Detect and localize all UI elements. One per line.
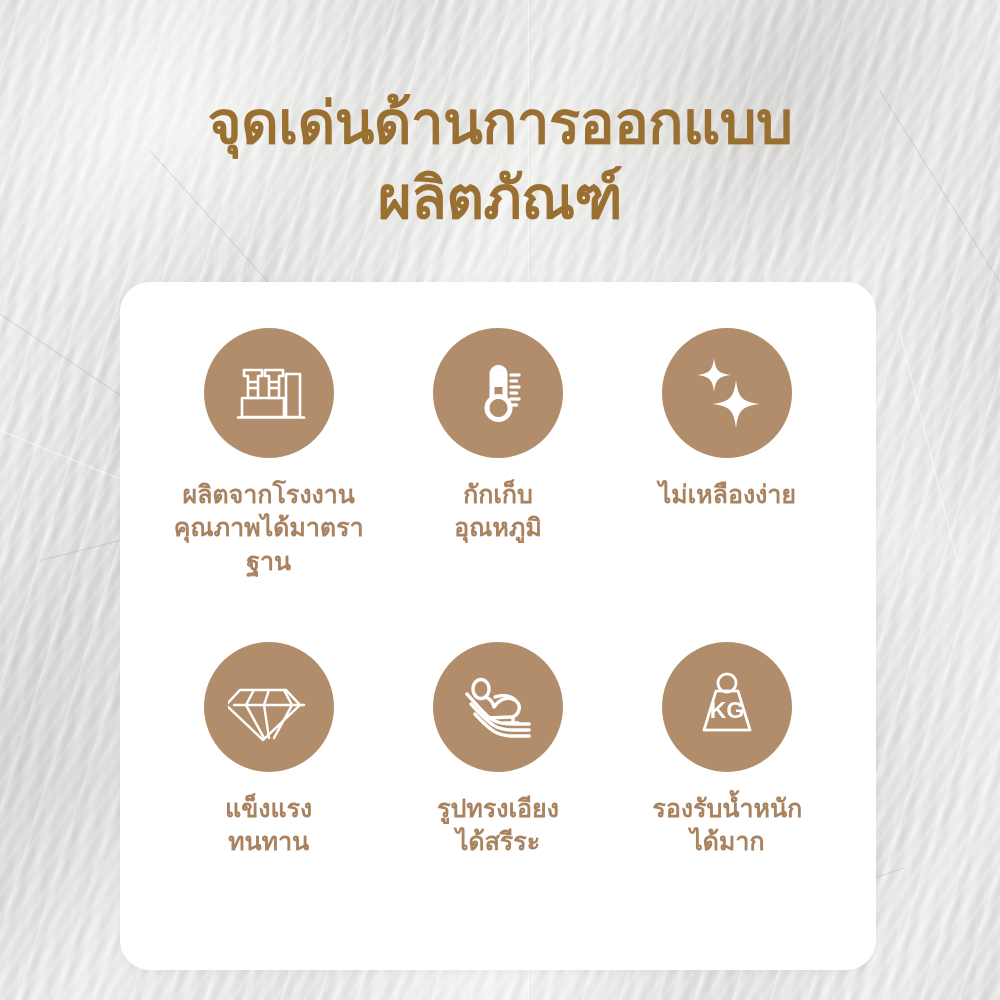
icon-badge-no-yellowing	[662, 328, 792, 458]
feature-label-line-1: กักเก็บ	[463, 481, 533, 509]
diamond-icon	[228, 666, 310, 748]
feature-label-durable: แข็งแรง ทนทาน	[225, 793, 312, 860]
feature-item-no-yellowing: ไม่เหลืองง่าย	[613, 328, 842, 636]
feature-item-durable: แข็งแรง ทนทาน	[154, 642, 383, 944]
page-title: จุดเด่นด้านการออกแบบ ผลิตภัณฑ์	[0, 86, 1000, 237]
feature-item-temperature: กักเก็บ อุณหภูมิ	[383, 328, 612, 636]
icon-badge-temperature	[433, 328, 563, 458]
feature-label-load-capacity: รองรับน้ำหนัก ได้มาก	[652, 793, 802, 860]
page-title-line-1: จุดเด่นด้านการออกแบบ	[0, 86, 1000, 161]
feature-label-line-2: ได้สรีระ	[437, 826, 559, 859]
icon-badge-durable	[204, 642, 334, 772]
reclining-person-icon	[455, 664, 541, 750]
icon-badge-factory	[204, 328, 334, 458]
feature-label-line-1: ผลิตจากโรงงาน	[182, 481, 354, 509]
features-grid: ผลิตจากโรงงาน คุณภาพได้มาตราฐาน	[120, 282, 876, 970]
feature-label-line-1: ไม่เหลืองง่าย	[659, 481, 797, 509]
thermometer-icon	[458, 353, 538, 433]
features-card: ผลิตจากโรงงาน คุณภาพได้มาตราฐาน	[120, 282, 876, 970]
feature-label-ergonomic: รูปทรงเอียง ได้สรีระ	[437, 793, 559, 860]
poster-canvas: จุดเด่นด้านการออกแบบ ผลิตภัณฑ์	[0, 0, 1000, 1000]
feature-label-line-2: ได้มาก	[652, 826, 802, 859]
feature-label-temperature: กักเก็บ อุณหภูมิ	[454, 479, 542, 546]
feature-label-line-2: อุณหภูมิ	[454, 512, 542, 545]
weight-kg-icon: KG	[686, 666, 768, 748]
feature-item-factory: ผลิตจากโรงงาน คุณภาพได้มาตราฐาน	[154, 328, 383, 636]
feature-label-line-1: รูปทรงเอียง	[437, 795, 559, 823]
feature-label-line-2: คุณภาพได้มาตราฐาน	[154, 512, 383, 579]
icon-badge-load-capacity: KG	[662, 642, 792, 772]
feature-label-factory: ผลิตจากโรงงาน คุณภาพได้มาตราฐาน	[154, 479, 383, 579]
weight-icon-text: KG	[710, 697, 745, 723]
feature-label-line-2: ทนทาน	[225, 826, 312, 859]
page-title-line-2: ผลิตภัณฑ์	[0, 161, 1000, 236]
icon-badge-ergonomic	[433, 642, 563, 772]
feature-label-line-1: แข็งแรง	[225, 795, 312, 823]
feature-item-ergonomic: รูปทรงเอียง ได้สรีระ	[383, 642, 612, 944]
sparkle-stars-icon	[684, 350, 770, 436]
feature-label-line-1: รองรับน้ำหนัก	[652, 795, 802, 823]
feature-item-load-capacity: KG รองรับน้ำหนัก ได้มาก	[613, 642, 842, 944]
feature-label-no-yellowing: ไม่เหลืองง่าย	[659, 479, 797, 512]
factory-icon	[229, 353, 309, 433]
